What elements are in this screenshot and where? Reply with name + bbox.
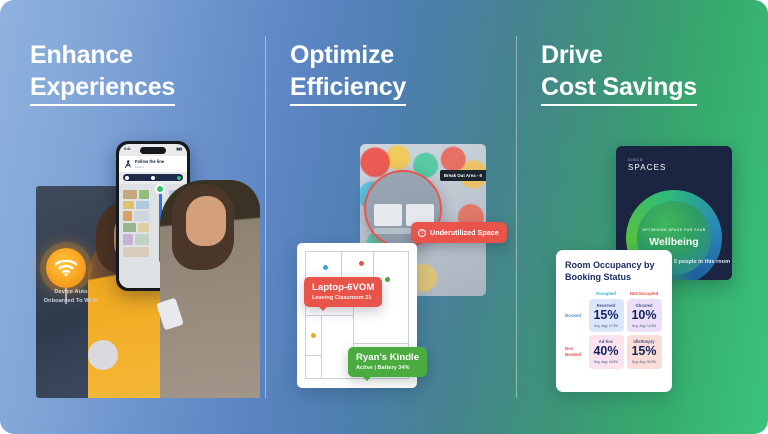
phone-notch [140, 147, 166, 154]
matrix-column-headers: Occupied Not Occupied [565, 291, 663, 296]
cell-idle-empty-value: 15% [629, 345, 660, 359]
kindle-tooltip-subtitle: Active | Battery 34% [356, 365, 419, 371]
panel2-heading-line1: Optimize [290, 41, 394, 69]
cell-reserved[interactable]: Reserved 15% Org. Avg: 17.5% [589, 299, 624, 332]
panel-enhance-experiences: Enhance Experiences Device Auto Onboarde… [0, 0, 265, 434]
tooltip-tail-green [362, 376, 372, 381]
cell-reserved-value: 15% [591, 309, 622, 323]
kindle-tooltip-title: Ryan's Kindle [356, 352, 419, 363]
tooltip-tail-red [318, 306, 328, 311]
device-tooltip-laptop[interactable]: Laptop-6VOM Leaving Classroom 21 [304, 277, 382, 307]
status-time: 9:41 [124, 147, 131, 155]
cell-ghosted[interactable]: Ghosted 10% Org. Avg: 12.5% [627, 299, 662, 332]
device-dot-2 [359, 261, 364, 266]
matrix-row-booked: Booked Reserved 15% Org. Avg: 17.5% Ghos… [565, 299, 663, 332]
nav-subtitle: Level 2 [135, 165, 164, 169]
underutilized-space-badge[interactable]: ! Underutilized Space [411, 222, 507, 243]
panel-drive-cost-savings: Drive Cost Savings CISCO SPACES OPTIMIZI… [516, 0, 768, 434]
progress-dot-end [177, 176, 181, 180]
panel3-heading-line2: Cost Savings [541, 72, 697, 107]
wellbeing-kicker: OPTIMIZING SPACE FOR YOUR [642, 228, 705, 233]
second-person-face [186, 196, 226, 246]
col-header-not-occupied: Not Occupied [625, 291, 663, 296]
wifi-caption: Device Auto Onboarded To Wi-Fi [40, 288, 102, 305]
panel3-heading-line1: Drive [541, 41, 603, 69]
col-header-occupied: Occupied [587, 291, 625, 296]
device-tooltip-kindle[interactable]: Ryan's Kindle Active | Battery 34% [348, 347, 427, 377]
person-handheld-phone [88, 340, 118, 370]
panel2-heading-line2: Efficiency [290, 72, 406, 107]
panel3-heading: Drive Cost Savings [541, 40, 697, 106]
wellbeing-title: Wellbeing [649, 236, 698, 248]
device-dot-1 [323, 265, 328, 270]
cell-ghosted-sub: Org. Avg: 12.5% [629, 324, 660, 329]
status-icons: ▮▮▮ [176, 147, 182, 155]
alert-circle-icon: ! [418, 229, 426, 237]
progress-dot-start [125, 176, 129, 180]
heatmap-area-label: Break Out Area - 6 [440, 170, 486, 181]
row-header-non-booked: Non Booked [565, 335, 587, 368]
cell-reserved-sub: Org. Avg: 17.5% [591, 324, 622, 329]
cell-idle-empty-sub: Org. Avg: 52.5% [629, 360, 660, 365]
matrix-row-non-booked: Non Booked Ad-hoc 40% Org. Avg: 32.5% Id… [565, 335, 663, 368]
people-count-badge: 5 people in this room [673, 258, 731, 266]
cell-ghosted-value: 10% [629, 309, 660, 323]
desk-shape-left [374, 204, 402, 226]
nav-title: Follow the line [135, 159, 164, 164]
cell-adhoc-value: 40% [591, 345, 622, 359]
brand-top-label: CISCO [628, 158, 666, 162]
marketing-banner: Enhance Experiences Device Auto Onboarde… [0, 0, 768, 434]
panel-optimize-efficiency: Optimize Efficiency Break Out Area - 6 !… [265, 0, 516, 434]
panel1-heading: Enhance Experiences [30, 40, 175, 106]
device-dot-3 [385, 277, 390, 282]
panel1-heading-line2: Experiences [30, 72, 175, 107]
route-progress-bar [123, 174, 183, 181]
progress-dot-mid [151, 176, 155, 180]
brand-main-label: SPACES [628, 163, 666, 172]
cell-adhoc-sub: Org. Avg: 32.5% [591, 360, 622, 365]
cell-idle-empty[interactable]: Idle/Empty 15% Org. Avg: 52.5% [627, 335, 662, 368]
room-occupancy-title: Room Occupancy by Booking Status [565, 260, 663, 283]
row-header-booked: Booked [565, 299, 587, 332]
panel2-heading: Optimize Efficiency [290, 40, 406, 106]
device-dot-4 [311, 333, 316, 338]
destination-pin-icon [155, 184, 165, 194]
laptop-tooltip-subtitle: Leaving Classroom 21 [312, 295, 374, 301]
cisco-spaces-logo: CISCO SPACES [628, 158, 666, 172]
cell-adhoc[interactable]: Ad-hoc 40% Org. Avg: 32.5% [589, 335, 624, 368]
wifi-icon [46, 248, 86, 288]
room-occupancy-card: Room Occupancy by Booking Status Occupie… [556, 250, 672, 392]
phone-nav-bar: Follow the line Level 2 [119, 156, 187, 172]
walking-person-icon [123, 160, 132, 169]
underutilized-space-label: Underutilized Space [430, 228, 499, 237]
laptop-tooltip-title: Laptop-6VOM [312, 282, 374, 293]
panel1-heading-line1: Enhance [30, 41, 133, 69]
nav-text-block: Follow the line Level 2 [135, 159, 164, 168]
